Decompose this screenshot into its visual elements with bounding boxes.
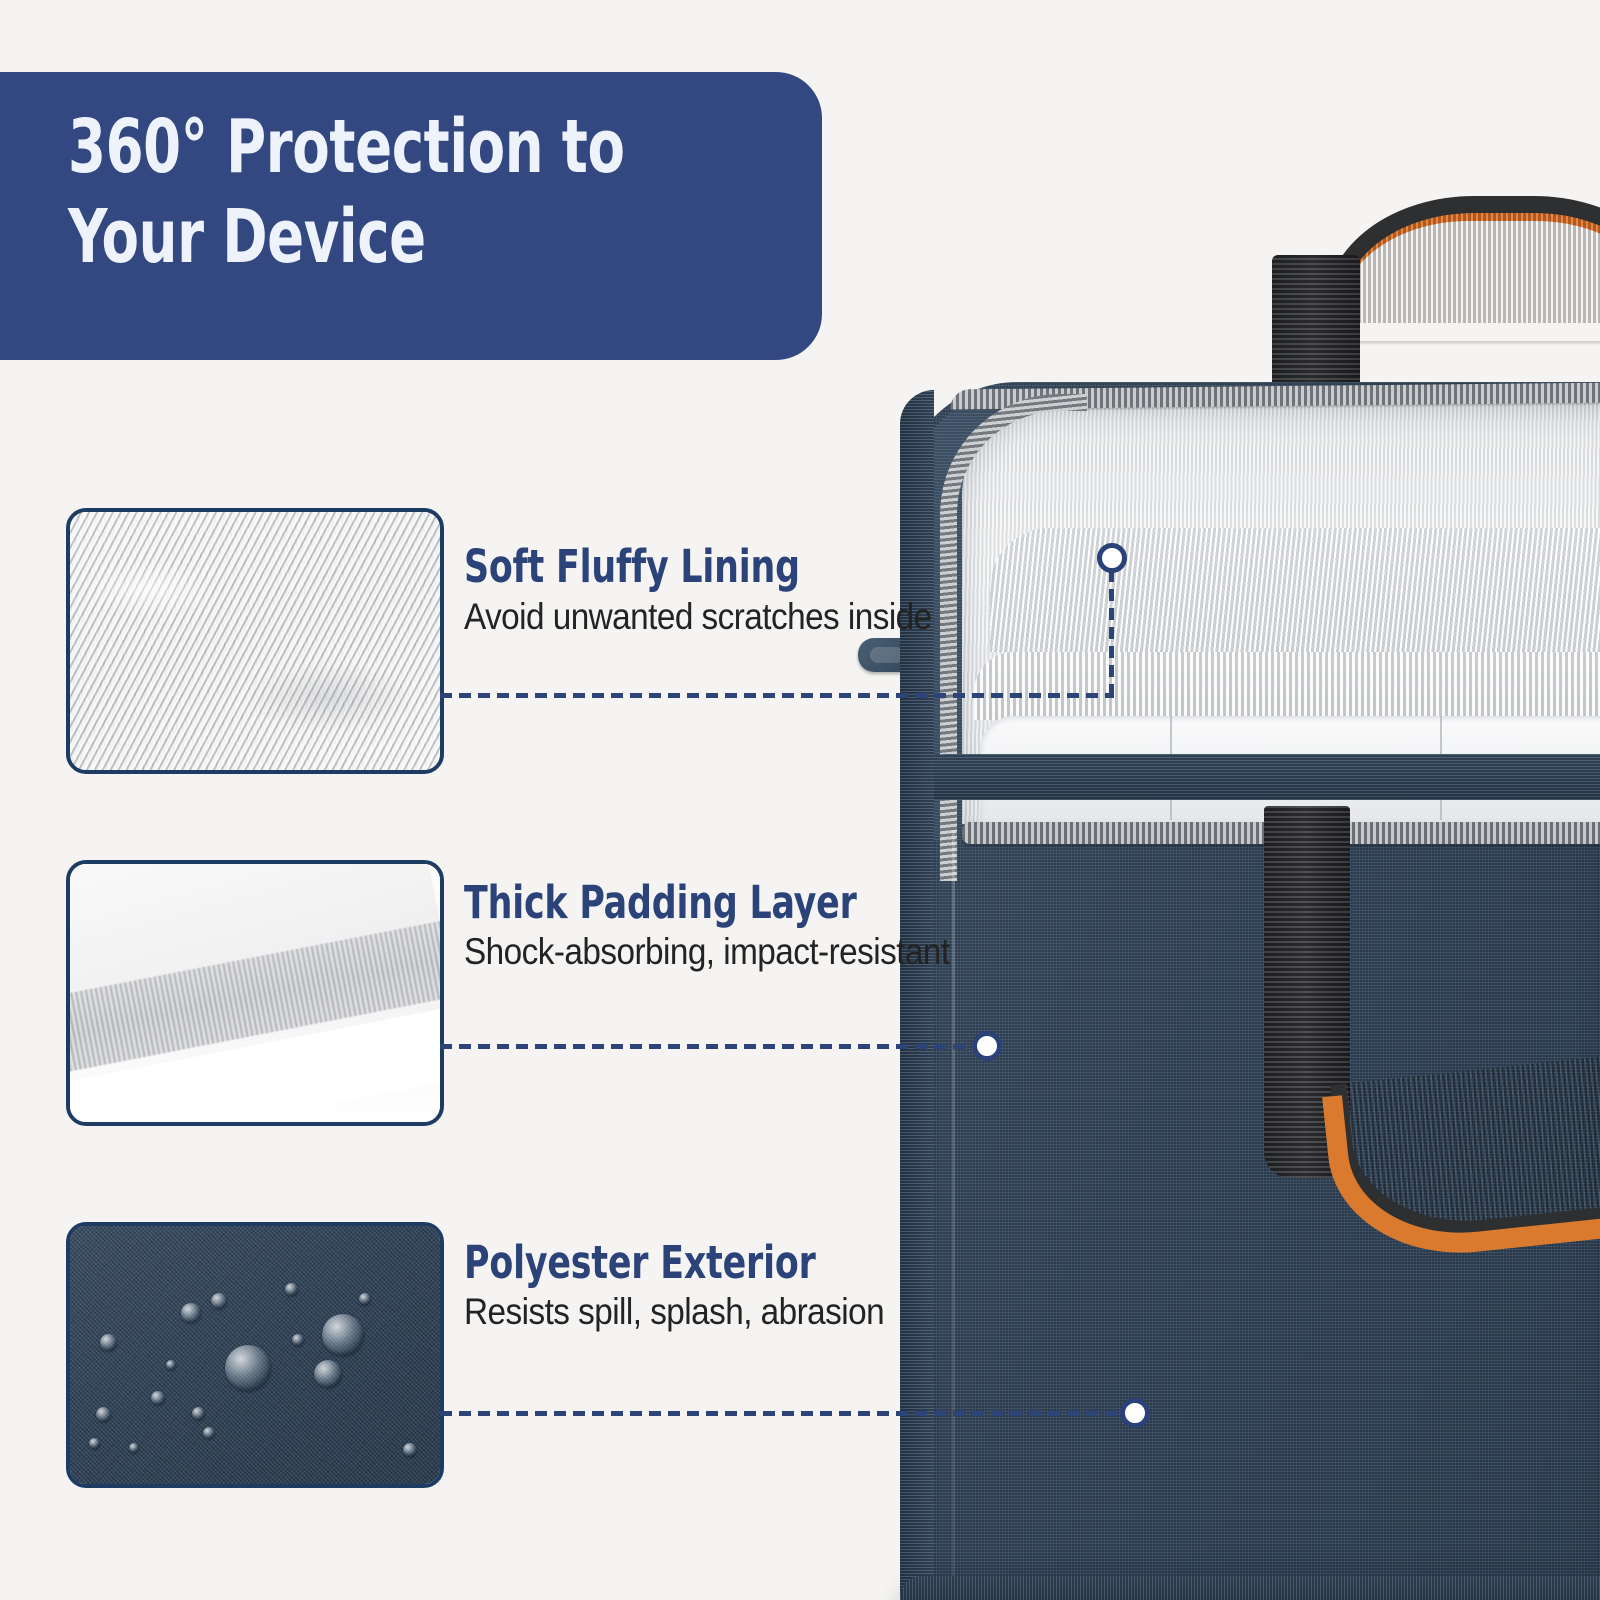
water-droplet — [359, 1293, 371, 1305]
thumbnail-soft-fluffy-lining — [66, 508, 444, 774]
water-droplet — [166, 1360, 176, 1370]
feature-subtitle-thick-padding-layer: Shock-absorbing, impact-resistant — [464, 931, 950, 973]
bottom-binding-trim — [900, 1576, 1600, 1600]
water-droplet — [129, 1443, 139, 1453]
water-droplet — [403, 1443, 417, 1457]
water-droplet — [192, 1407, 205, 1420]
feature-title-thick-padding-layer: Thick Padding Layer — [464, 876, 857, 929]
feature-subtitle-soft-fluffy-lining: Avoid unwanted scratches inside — [464, 596, 932, 638]
edge-binding-trim — [900, 390, 934, 1600]
feature-title-polyester-exterior: Polyester Exterior — [464, 1236, 816, 1289]
connector-line-2-horizontal — [440, 1044, 996, 1049]
water-droplet — [292, 1334, 304, 1346]
front-pocket-seam — [952, 830, 955, 1590]
water-droplet — [96, 1407, 111, 1422]
top-handle-webbing — [1326, 196, 1600, 323]
product-photo — [840, 150, 1600, 1570]
water-droplet — [151, 1391, 165, 1405]
thumbnail-polyester-exterior — [66, 1222, 444, 1488]
water-droplet — [203, 1427, 215, 1439]
water-repellent-fabric-swatch — [70, 1226, 440, 1484]
water-droplet — [89, 1438, 100, 1449]
water-droplet — [225, 1345, 271, 1391]
infographic-canvas: 360° Protection to Your Device Soft Fluf… — [0, 0, 1600, 1600]
water-droplet — [211, 1293, 227, 1309]
water-droplet — [322, 1314, 364, 1356]
callout-marker-soft-fluffy-lining — [1097, 543, 1127, 573]
banner-title-line1: 360° Protection to — [68, 102, 686, 192]
connector-line-3-horizontal — [440, 1411, 1140, 1416]
callout-marker-thick-padding-layer — [972, 1031, 1002, 1061]
feature-subtitle-polyester-exterior: Resists spill, splash, abrasion — [464, 1291, 884, 1333]
thumbnail-thick-padding-layer — [66, 860, 444, 1126]
water-droplet — [314, 1360, 342, 1388]
fleece-lining-swatch — [70, 512, 440, 770]
banner-title-line2: Your Device — [68, 192, 686, 282]
lid-binding-trim — [900, 754, 1600, 800]
connector-line-1-vertical — [1109, 570, 1114, 698]
water-droplet — [285, 1283, 298, 1296]
foam-padding-swatch — [70, 864, 440, 1122]
zipper-curved-track — [940, 394, 1087, 881]
water-droplet — [181, 1303, 201, 1323]
feature-title-soft-fluffy-lining: Soft Fluffy Lining — [464, 540, 800, 593]
water-droplet — [100, 1334, 117, 1351]
callout-marker-polyester-exterior — [1120, 1398, 1150, 1428]
header-banner: 360° Protection to Your Device — [0, 72, 822, 360]
connector-line-1-horizontal — [440, 693, 1114, 698]
